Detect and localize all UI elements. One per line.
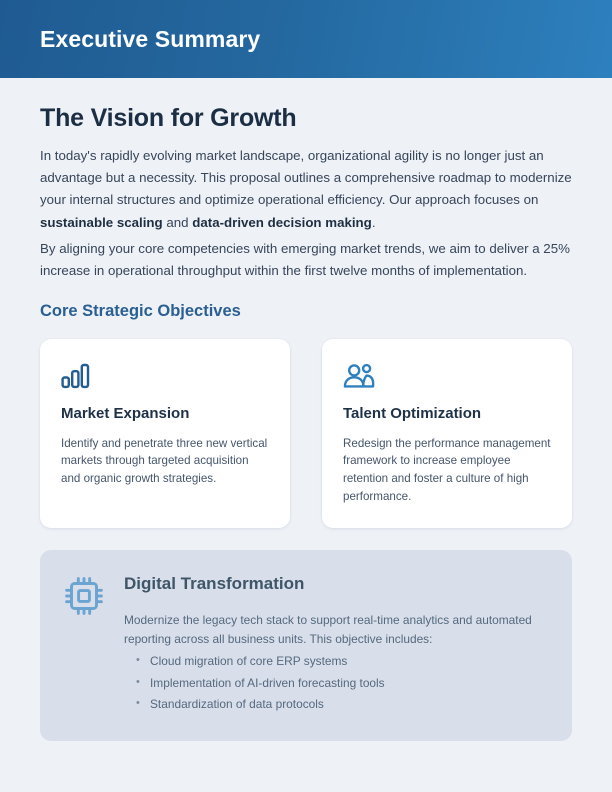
objective-card-title: Talent Optimization [343,405,551,423]
document-page: Executive Summary The Vision for Growth … [0,0,612,792]
panel-title: Digital Transformation [124,574,546,594]
panel-bullet-list: Cloud migration of core ERP systems Impl… [124,651,546,715]
objective-card-description: Identify and penetrate three new vertica… [61,435,269,489]
objective-cards-row: Market Expansion Identify and penetrate … [40,339,572,529]
digital-transformation-panel: Digital Transformation Modernize the leg… [40,550,572,741]
users-icon [343,359,551,389]
intro-paragraph: In today's rapidly evolving market lands… [40,145,572,234]
intro-highlight-1: sustainable scaling [40,215,163,230]
list-item: Cloud migration of core ERP systems [150,651,546,672]
header-banner: Executive Summary [0,0,612,78]
objective-card-market-expansion: Market Expansion Identify and penetrate … [40,339,290,529]
objectives-heading: Core Strategic Objectives [40,302,572,322]
intro-text-part-3: . [372,215,376,230]
intro-text-part-2: and [163,215,193,230]
list-item: Implementation of AI-driven forecasting … [150,673,546,694]
panel-body: Digital Transformation Modernize the leg… [124,572,546,715]
objective-card-talent-optimization: Talent Optimization Redesign the perform… [322,339,572,529]
intro-highlight-2: data-driven decision making [192,215,372,230]
list-item: Standardization of data protocols [150,694,546,715]
objective-card-description: Redesign the performance management fram… [343,435,551,507]
intro-text-part-1: In today's rapidly evolving market lands… [40,148,572,208]
content-area: The Vision for Growth In today's rapidly… [0,78,612,741]
page-title: The Vision for Growth [40,104,572,133]
objective-card-title: Market Expansion [61,405,269,423]
bar-chart-icon [61,359,269,389]
goal-paragraph: By aligning your core competencies with … [40,238,572,283]
panel-description: Modernize the legacy tech stack to suppo… [124,611,544,650]
cpu-chip-icon [62,572,106,715]
header-title: Executive Summary [40,28,260,51]
